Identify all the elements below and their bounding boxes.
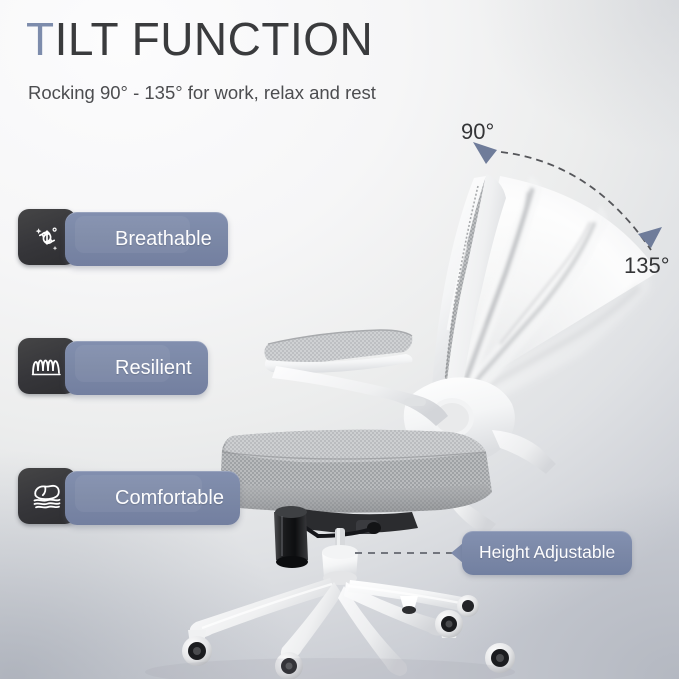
page-title: TILT FUNCTION — [26, 16, 373, 62]
page-subtitle: Rocking 90° - 135° for work, relax and r… — [28, 84, 376, 103]
feature-pill-breathable[interactable]: Breathable — [65, 212, 228, 266]
spring-coil-icon — [29, 351, 65, 381]
chair-base — [190, 528, 475, 676]
feature-pill-comfortable[interactable]: Comfortable — [65, 471, 240, 525]
feature-label: Resilient — [115, 358, 192, 378]
page-title-rest: ILT FUNCTION — [55, 13, 374, 65]
page-title-accent-letter: T — [26, 13, 55, 65]
air-circulation-icon — [30, 220, 64, 254]
angle-label-min: 90° — [461, 121, 494, 143]
cushion-icon — [29, 480, 65, 512]
callout-leader-line-height — [355, 552, 465, 554]
angle-label-max: 135° — [624, 255, 670, 277]
infographic-canvas: TILT FUNCTION Rocking 90° - 135° for wor… — [0, 0, 679, 679]
callout-pill[interactable]: Height Adjustable — [462, 531, 632, 575]
seat-cushion — [220, 430, 492, 513]
feature-label: Breathable — [115, 229, 212, 249]
callout-height-adjustable[interactable]: Height Adjustable — [462, 531, 632, 575]
callout-label: Height Adjustable — [479, 544, 615, 562]
gas-cylinder — [274, 506, 308, 568]
feature-label: Comfortable — [115, 488, 224, 508]
feature-pill-resilient[interactable]: Resilient — [65, 341, 208, 395]
armrest — [264, 330, 448, 426]
